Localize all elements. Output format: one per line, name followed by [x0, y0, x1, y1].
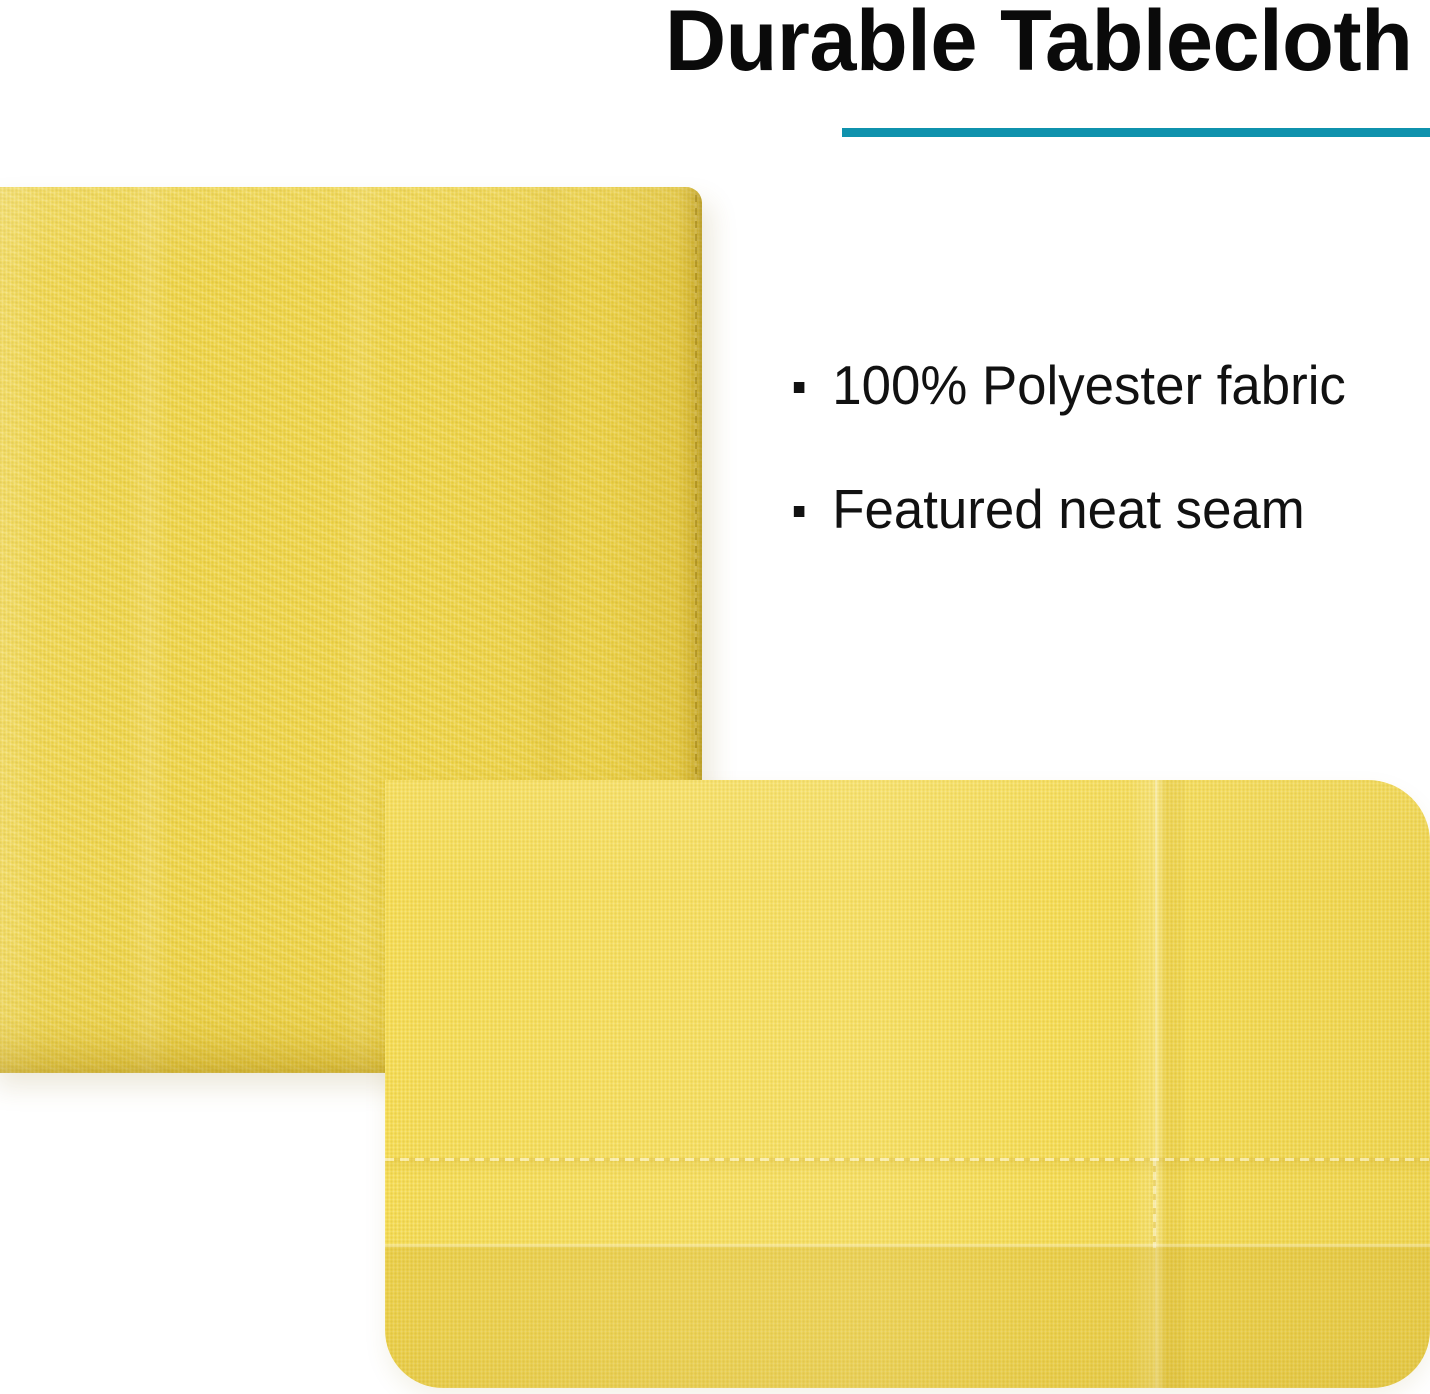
hem-fold-edge	[385, 1244, 1430, 1247]
product-feature-image: Durable Tablecloth 100% Polyester fabric…	[0, 0, 1430, 1394]
feature-label: Featured neat seam	[832, 478, 1305, 540]
hem-fold-band	[385, 1246, 1430, 1388]
square-bullet-icon	[794, 382, 805, 393]
feature-list: 100% Polyester fabric Featured neat seam	[790, 350, 1430, 598]
list-item: Featured neat seam	[790, 474, 1404, 544]
fold-crease	[126, 187, 172, 1073]
hem-seam-stitching	[385, 1158, 1430, 1161]
fold-crease	[338, 187, 384, 1073]
vertical-fold-crease	[1129, 780, 1185, 1388]
fabric-weave-texture	[385, 780, 1430, 1388]
feature-label: 100% Polyester fabric	[832, 354, 1346, 416]
hem-seam-shadow	[385, 1161, 1430, 1175]
page-title: Durable Tablecloth	[665, 0, 1412, 89]
hem-seam-stitching-vertical	[1153, 1158, 1156, 1248]
flat-tablecloth-image	[385, 780, 1430, 1388]
vertical-fold-highlight	[1155, 780, 1157, 1388]
fabric-shading	[385, 780, 1430, 1388]
title-underline-rule	[842, 128, 1430, 137]
square-bullet-icon	[794, 506, 805, 517]
heading-block: Durable Tablecloth	[660, 0, 1430, 150]
list-item: 100% Polyester fabric	[790, 350, 1404, 420]
